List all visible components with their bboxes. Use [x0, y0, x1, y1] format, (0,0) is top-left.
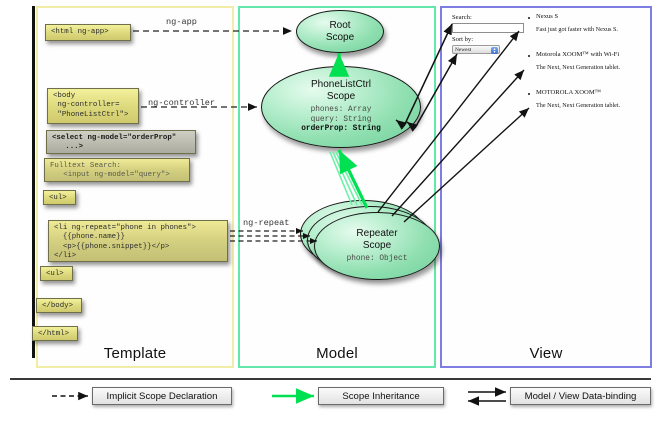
code-box-body-close: </body> — [36, 298, 82, 313]
phone-name[interactable]: MOTOROLA XOOM™ — [536, 89, 601, 97]
panel-label-template: Template — [38, 345, 232, 362]
code-box-ul-close: <ul> — [40, 266, 73, 281]
scope-repeater: Repeater Scope phone: Object — [314, 212, 440, 280]
scope-root-title-line1: Root — [329, 20, 350, 32]
scope-phonelistctrl-props-bold: orderProp: String — [301, 125, 381, 135]
phone-snippet: The Next, Next Generation tablet. — [536, 64, 620, 72]
legend-item-scope-inheritance: Scope Inheritance — [318, 387, 444, 405]
code-box-select: <select ng-model="orderProp" ...> — [46, 130, 196, 154]
sort-by-selected-value: Newest — [455, 47, 471, 53]
diagram-canvas: Template Model View <html ng-app> <body … — [0, 0, 661, 425]
scope-phonelistctrl: PhoneListCtrl Scope phones: Array query:… — [261, 66, 421, 148]
phone-name[interactable]: Motorola XOOM™ with Wi-Fi — [536, 51, 619, 59]
scope-phonelistctrl-props-plain: phones: Array query: String — [311, 106, 372, 125]
panel-label-view: View — [442, 345, 650, 362]
panel-model: Model — [238, 6, 436, 368]
search-label: Search: — [452, 14, 472, 21]
scope-repeater-title-line2: Scope — [363, 240, 391, 252]
list-bullet — [528, 55, 530, 57]
panel-template: Template — [36, 6, 234, 368]
code-box-body-open: <body ng-controller= "PhoneListCtrl"> — [47, 88, 139, 124]
scope-root: Root Scope — [296, 10, 384, 53]
legend-arrow-databinding — [468, 392, 506, 401]
scope-phonelistctrl-title-line1: PhoneListCtrl — [311, 79, 371, 91]
scope-repeater-props: phone: Object — [347, 255, 408, 265]
stepper-icon[interactable]: ▴▾ — [491, 47, 498, 54]
legend-item-implicit-scope-declaration: Implicit Scope Declaration — [92, 387, 232, 405]
legend-item-model-view-data-binding: Model / View Data-binding — [510, 387, 651, 405]
phone-snippet: Fast just got faster with Nexus S. — [536, 26, 618, 34]
code-box-li-ng-repeat: <li ng-repeat="phone in phones"> {{phone… — [48, 220, 228, 262]
left-edge-rule — [32, 6, 35, 358]
connector-label-ng-controller: ng-controller — [148, 98, 215, 108]
code-box-fulltext-input: Fulltext Search: <input ng-model="query"… — [44, 158, 190, 182]
panel-label-model: Model — [240, 345, 434, 362]
phone-name[interactable]: Nexus S — [536, 13, 558, 21]
code-box-html-close: </html> — [32, 326, 78, 341]
legend-divider — [10, 378, 651, 380]
search-input[interactable] — [452, 23, 524, 33]
connector-label-ng-repeat: ng-repeat — [243, 218, 289, 228]
code-box-ul-open: <ul> — [43, 190, 76, 205]
phone-snippet: The Next, Next Generation tablet. — [536, 102, 620, 110]
sort-by-label: Sort by: — [452, 36, 473, 43]
list-bullet — [528, 17, 530, 19]
list-bullet — [528, 93, 530, 95]
connector-label-ng-app: ng-app — [166, 17, 197, 27]
scope-repeater-title-line1: Repeater — [356, 228, 397, 240]
view-rendered-app: Search: Sort by: Newest ▴▾ Nexus S Fast … — [448, 12, 646, 130]
scope-phonelistctrl-title-line2: Scope — [327, 91, 355, 103]
sort-by-select[interactable]: Newest ▴▾ — [452, 45, 500, 54]
code-box-html-open: <html ng-app> — [45, 24, 131, 41]
scope-root-title-line2: Scope — [326, 32, 354, 44]
